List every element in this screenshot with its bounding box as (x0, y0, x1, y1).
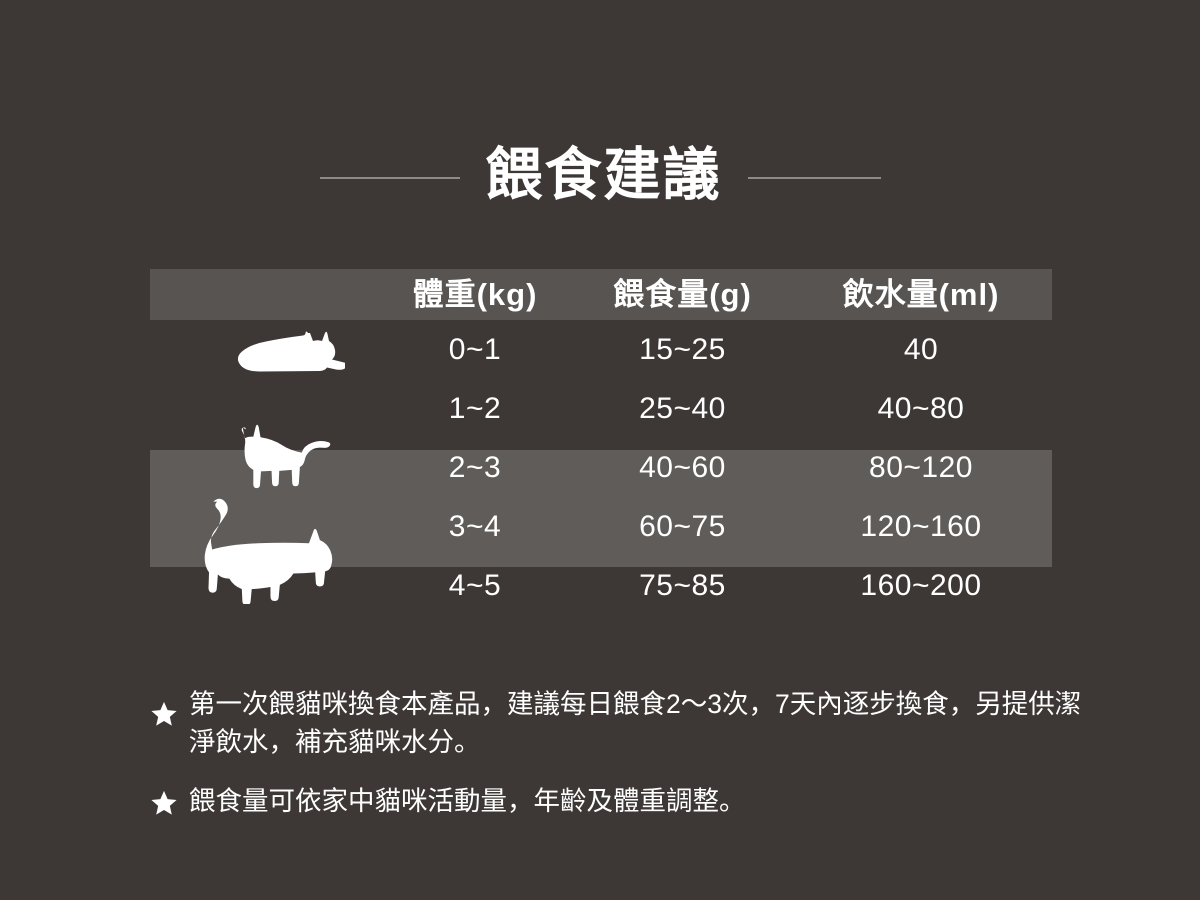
note-item: 餵食量可依家中貓咪活動量，年齡及體重調整。 (150, 783, 1090, 821)
header-cell-water: 飲水量(ml) (790, 279, 1052, 310)
header-cell-weight: 體重(kg) (375, 279, 575, 310)
cell-food: 75~85 (575, 571, 790, 601)
cell-weight: 0~1 (375, 335, 575, 365)
table-body: 體重(kg) 餵食量(g) 飲水量(ml) 0~1 15~25 40 1~2 2… (150, 269, 1052, 615)
cell-weight: 4~5 (375, 571, 575, 601)
cell-water: 40~80 (790, 394, 1052, 424)
star-icon (150, 700, 178, 728)
table-row: 0~1 15~25 40 (150, 320, 1052, 379)
title-block: 餵食建議 (0, 138, 1200, 218)
title-rule-right (748, 177, 881, 179)
page-title: 餵食建議 (486, 147, 722, 210)
cell-water: 120~160 (790, 512, 1052, 542)
cell-weight: 3~4 (375, 512, 575, 542)
star-icon (150, 789, 178, 817)
note-text: 餵食量可依家中貓咪活動量，年齡及體重調整。 (189, 783, 746, 821)
feeding-recommendation-table: 體重(kg) 餵食量(g) 飲水量(ml) 0~1 15~25 40 1~2 2… (150, 269, 1052, 629)
cell-food: 60~75 (575, 512, 790, 542)
note-item: 第一次餵貓咪換食本產品，建議每日餵食2～3次，7天內逐步換食，另提供潔淨飲水，補… (150, 686, 1090, 761)
cell-food: 15~25 (575, 335, 790, 365)
cell-food: 25~40 (575, 394, 790, 424)
cell-water: 160~200 (790, 571, 1052, 601)
notes-section: 第一次餵貓咪換食本產品，建議每日餵食2～3次，7天內逐步換食，另提供潔淨飲水，補… (150, 686, 1090, 843)
header-cell-food: 餵食量(g) (575, 279, 790, 310)
cell-water: 80~120 (790, 453, 1052, 483)
title-rule-left (320, 177, 460, 179)
table-row: 2~3 40~60 80~120 (150, 438, 1052, 497)
cell-water: 40 (790, 335, 1052, 365)
cell-food: 40~60 (575, 453, 790, 483)
table-row: 3~4 60~75 120~160 (150, 497, 1052, 556)
table-row: 4~5 75~85 160~200 (150, 556, 1052, 615)
note-text: 第一次餵貓咪換食本產品，建議每日餵食2～3次，7天內逐步換食，另提供潔淨飲水，補… (189, 686, 1090, 761)
cell-weight: 2~3 (375, 453, 575, 483)
cell-weight: 1~2 (375, 394, 575, 424)
table-header-row: 體重(kg) 餵食量(g) 飲水量(ml) (150, 269, 1052, 320)
table-row: 1~2 25~40 40~80 (150, 379, 1052, 438)
